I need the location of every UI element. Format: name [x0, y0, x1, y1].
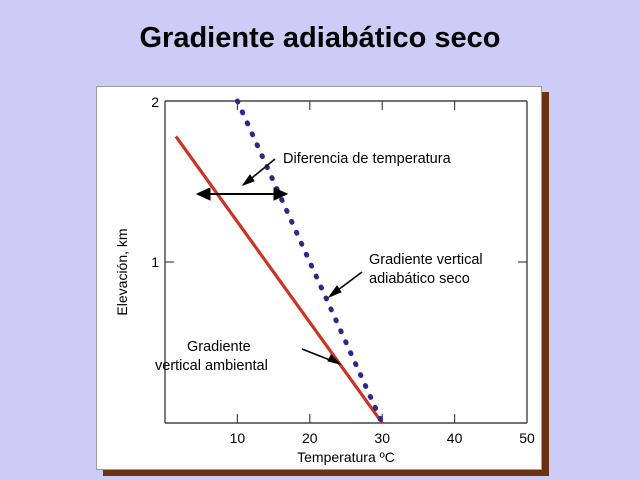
- leader-line-adiabatico: [329, 272, 362, 297]
- x-axis-label: Temperatura ºC: [297, 449, 395, 465]
- leader-line-diferencia: [243, 159, 275, 185]
- chart-plot-area: 10 20 30 40 50 1 2 Temperatura ºC Elevac…: [97, 87, 543, 471]
- x-tick-label-20: 20: [302, 430, 318, 446]
- x-tick-label-30: 30: [374, 430, 390, 446]
- annotation-gradiente-ambiental-line2: vertical ambiental: [155, 358, 268, 374]
- annotation-gradiente-adiabatico-line2: adiabático seco: [369, 271, 470, 287]
- x-tick-label-50: 50: [519, 430, 535, 446]
- annotation-diferencia-de-temperatura: Diferencia de temperatura: [283, 151, 452, 167]
- chart-panel: 10 20 30 40 50 1 2 Temperatura ºC Elevac…: [96, 86, 542, 470]
- y-tick-label-2: 2: [151, 94, 159, 110]
- x-tick-label-10: 10: [230, 430, 246, 446]
- y-axis-label: Elevación, km: [114, 228, 130, 315]
- temperature-difference-arrow: [197, 188, 287, 200]
- chart-svg: 10 20 30 40 50 1 2 Temperatura ºC Elevac…: [97, 87, 543, 471]
- series-line-gradiente-vertical-adiabatico-seco: [237, 101, 382, 423]
- y-tick-label-1: 1: [151, 254, 159, 270]
- slide-title: Gradiente adiabático seco: [0, 22, 640, 55]
- annotation-gradiente-ambiental-line1: Gradiente: [187, 339, 251, 355]
- annotation-gradiente-adiabatico-line1: Gradiente vertical: [369, 252, 483, 268]
- x-tick-label-40: 40: [447, 430, 463, 446]
